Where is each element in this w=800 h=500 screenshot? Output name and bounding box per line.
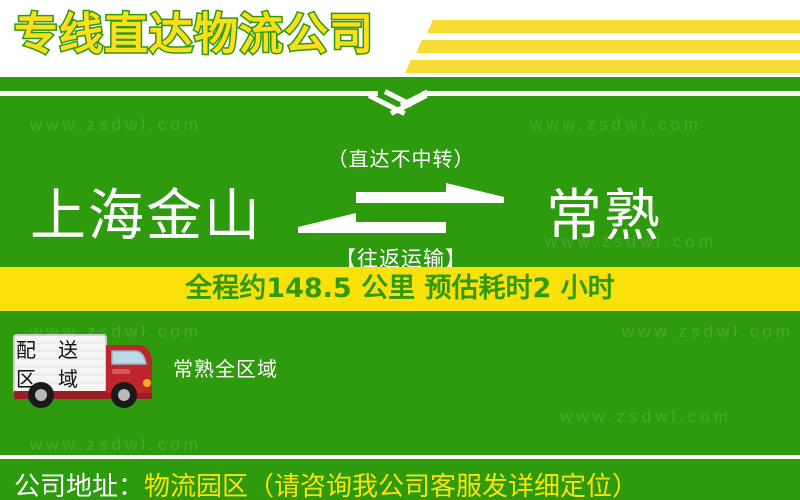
footer: 公司地址：物流园区（请咨询我公司客服发详细定位） [0, 467, 800, 500]
header-stripe-2 [416, 40, 800, 53]
footer-divider [0, 455, 800, 459]
watermark: www.zsdwl.com [30, 115, 202, 135]
divider-line-right [422, 91, 800, 96]
origin-city: 上海金山 [30, 171, 262, 252]
truck-label: 配 送 区 域 [14, 339, 102, 393]
destination-city: 常熟 [546, 171, 662, 252]
header-stripe-1 [427, 20, 800, 33]
watermark: www.zsdwl.com [30, 435, 202, 455]
delivery-area-text: 常熟全区域 [173, 353, 278, 382]
banner-header: 专线直达物流公司 [0, 0, 800, 77]
page-title: 专线直达物流公司 [14, 7, 374, 63]
truck-label-char-3: 区 [16, 369, 36, 389]
direct-note: （直达不中转） [296, 143, 506, 172]
divider-line-left [0, 91, 378, 96]
bidirectional-arrow-icon [296, 183, 506, 241]
company-address: 公司地址：物流园区（请咨询我公司客服发详细定位） [14, 467, 638, 500]
distance-duration-text: 全程约148.5 公里 预估耗时2 小时 [0, 267, 800, 311]
banner-body: www.zsdwl.com www.zsdwl.com www.zsdwl.co… [0, 77, 800, 500]
delivery-row: 配 送 区 域 常熟全区域 [0, 327, 800, 417]
address-value: 物流园区（请咨询我公司客服发详细定位） [144, 472, 638, 500]
truck-label-char-4: 域 [58, 369, 78, 389]
truck-label-char-2: 送 [58, 340, 78, 360]
distance-band: 全程约148.5 公里 预估耗时2 小时 [0, 267, 800, 311]
route-row: 上海金山 常熟 （直达不中转） 【往返运输】 [0, 137, 800, 282]
logistics-banner-card: 专线直达物流公司 www.zsdwl.com www.zsdwl.com www… [0, 0, 800, 500]
address-label: 公司地址： [14, 472, 144, 500]
header-stripe-3 [405, 60, 800, 73]
watermark: www.zsdwl.com [530, 115, 702, 135]
truck-label-char-1: 配 [16, 340, 36, 360]
route-middle: （直达不中转） 【往返运输】 [296, 143, 506, 283]
